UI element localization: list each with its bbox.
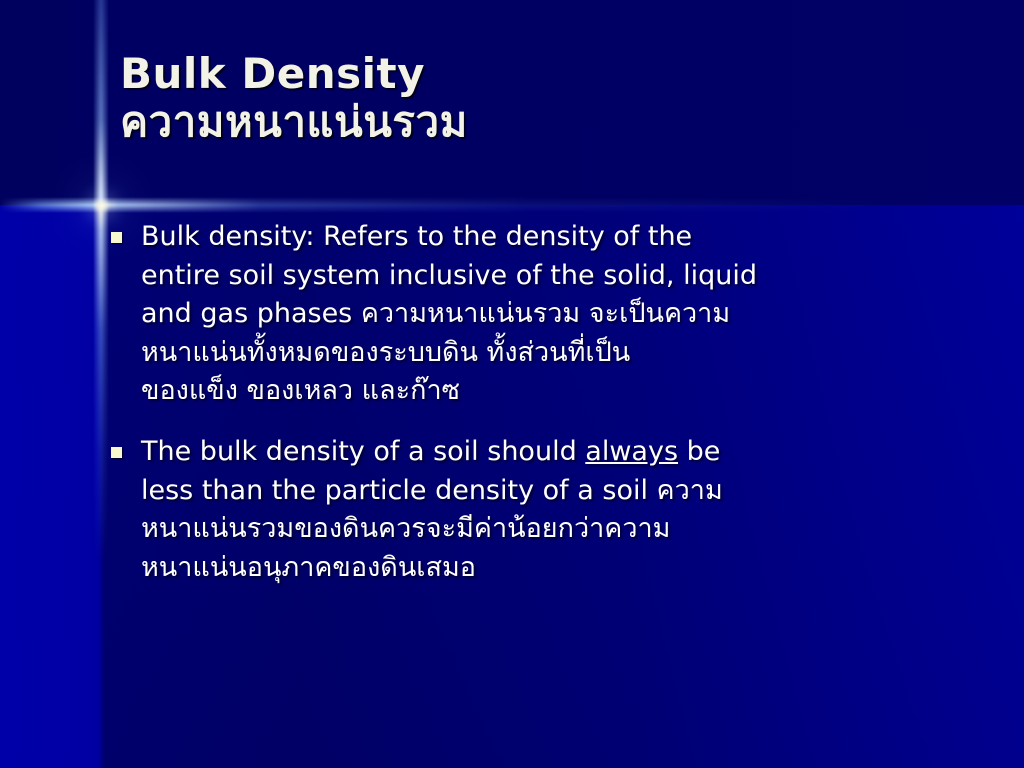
square-bullet-icon — [111, 447, 122, 458]
bullet-line: ของแข็ง ของเหลว และก๊าซ — [141, 372, 961, 411]
bullet-item-2: The bulk density of a soil should always… — [104, 433, 984, 587]
emphasized-word: always — [585, 436, 678, 467]
horizontal-light-beam-icon — [0, 197, 1024, 213]
bullet-line: less than the particle density of a soil… — [141, 472, 961, 511]
bullet-line: Bulk density: Refers to the density of t… — [141, 218, 961, 257]
bullet-item-1: Bulk density: Refers to the density of t… — [104, 218, 984, 411]
bullet-line: entire soil system inclusive of the soli… — [141, 257, 961, 296]
slide-content: Bulk density: Refers to the density of t… — [104, 218, 984, 609]
slide-title-thai: ความหนาแน่นรวม — [120, 100, 980, 144]
bullet-line: หนาแน่นอนุภาคของดินเสมอ — [141, 549, 961, 588]
bullet-text-2: The bulk density of a soil should always… — [141, 433, 961, 587]
bullet-line-part: The bulk density of a soil should always… — [141, 436, 720, 467]
slide-title-block: Bulk Density ความหนาแน่นรวม — [120, 52, 980, 143]
light-flare-icon — [101, 205, 103, 207]
bullet-line: หนาแน่นทั้งหมดของระบบดิน ทั้งส่วนที่เป็น — [141, 334, 961, 373]
bullet-line: หนาแน่นรวมของดินควรจะมีค่าน้อยกว่าความ — [141, 510, 961, 549]
square-bullet-icon — [111, 232, 122, 243]
bullet-line-emphasized: The bulk density of a soil should always… — [141, 433, 961, 472]
slide-title-english: Bulk Density — [120, 52, 980, 96]
bullet-line: and gas phases ความหนาแน่นรวม จะเป็นความ — [141, 295, 961, 334]
presentation-slide: Bulk Density ความหนาแน่นรวม Bulk density… — [0, 0, 1024, 768]
bullet-text-1: Bulk density: Refers to the density of t… — [141, 218, 961, 411]
